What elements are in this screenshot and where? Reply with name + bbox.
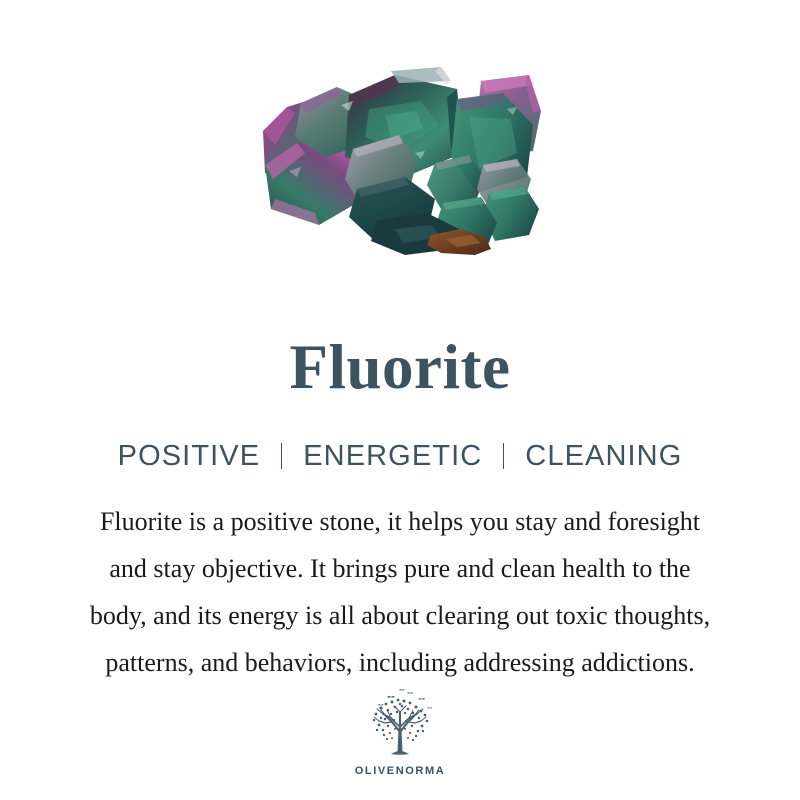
- description-line: and stay objective. It brings pure and c…: [0, 545, 800, 592]
- tree-logo-icon: [361, 688, 439, 760]
- description-line: patterns, and behaviors, including addre…: [0, 639, 800, 686]
- keyword-list: POSITIVEENERGETICCLEANING: [0, 438, 800, 474]
- keyword-positive: POSITIVE: [118, 440, 261, 472]
- stone-info-card: Fluorite POSITIVEENERGETICCLEANING Fluor…: [0, 0, 800, 800]
- keyword-separator: [281, 443, 282, 469]
- stone-description: Fluorite is a positive stone, it helps y…: [0, 498, 800, 686]
- page-title: Fluorite: [0, 332, 800, 402]
- keyword-energetic: ENERGETIC: [303, 440, 482, 472]
- description-line: body, and its energy is all about cleari…: [0, 592, 800, 639]
- brand-name: OLIVENORMA: [355, 765, 446, 777]
- brand-logo: OLIVENORMA: [0, 688, 800, 777]
- fluorite-crystal-image: [245, 53, 555, 258]
- keyword-cleaning: CLEANING: [525, 440, 682, 472]
- keyword-separator: [503, 443, 504, 469]
- description-line: Fluorite is a positive stone, it helps y…: [0, 498, 800, 545]
- specimen-image-container: [0, 0, 800, 310]
